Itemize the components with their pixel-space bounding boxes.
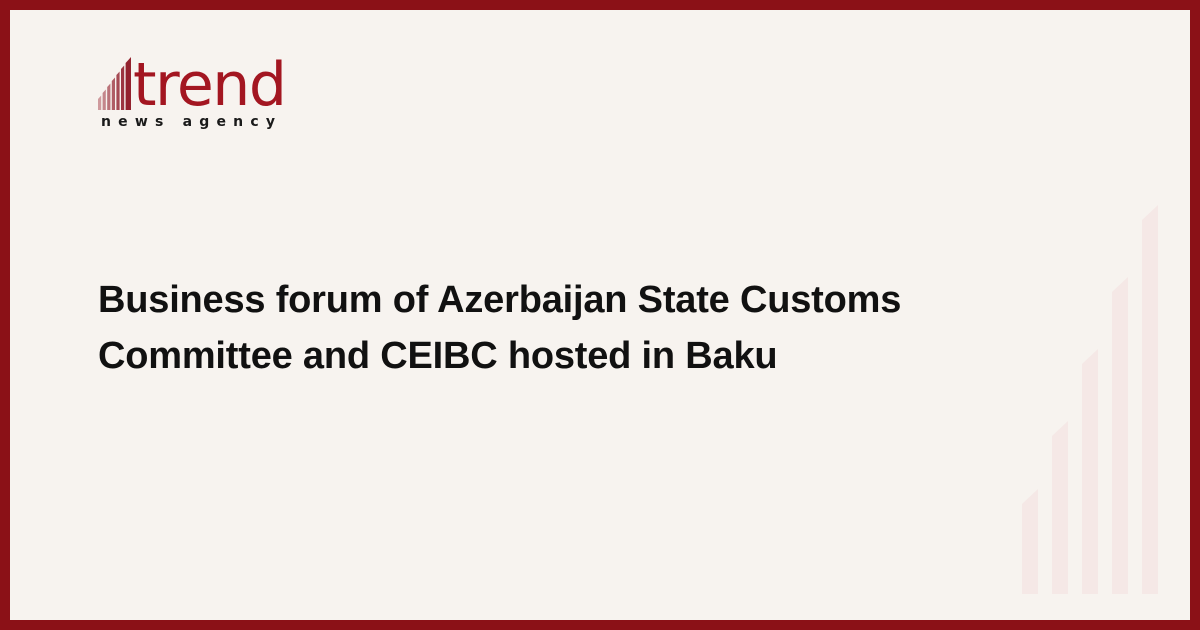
watermark-bar-5 [1142, 205, 1158, 594]
card-canvas: trend news agency Business forum of Azer… [10, 10, 1190, 620]
logo-primary-row: trend [98, 48, 358, 110]
headline-line-2: Committee and CEIBC hosted in Baku [98, 335, 777, 377]
headline: Business forum of Azerbaijan State Custo… [98, 272, 948, 384]
watermark-bar-2 [1052, 421, 1068, 594]
headline-line-1: Business forum of Azerbaijan State Custo… [98, 279, 901, 321]
watermark-bar-3 [1082, 349, 1098, 594]
social-share-card: trend news agency Business forum of Azer… [0, 0, 1200, 630]
trend-logo[interactable]: trend news agency [98, 48, 358, 130]
watermark-bar-4 [1112, 277, 1128, 594]
watermark-bar-1 [1022, 489, 1038, 594]
ascending-bars-watermark [1020, 164, 1180, 594]
logo-wordmark: trend [133, 57, 285, 113]
ascending-bars-icon [98, 54, 132, 110]
